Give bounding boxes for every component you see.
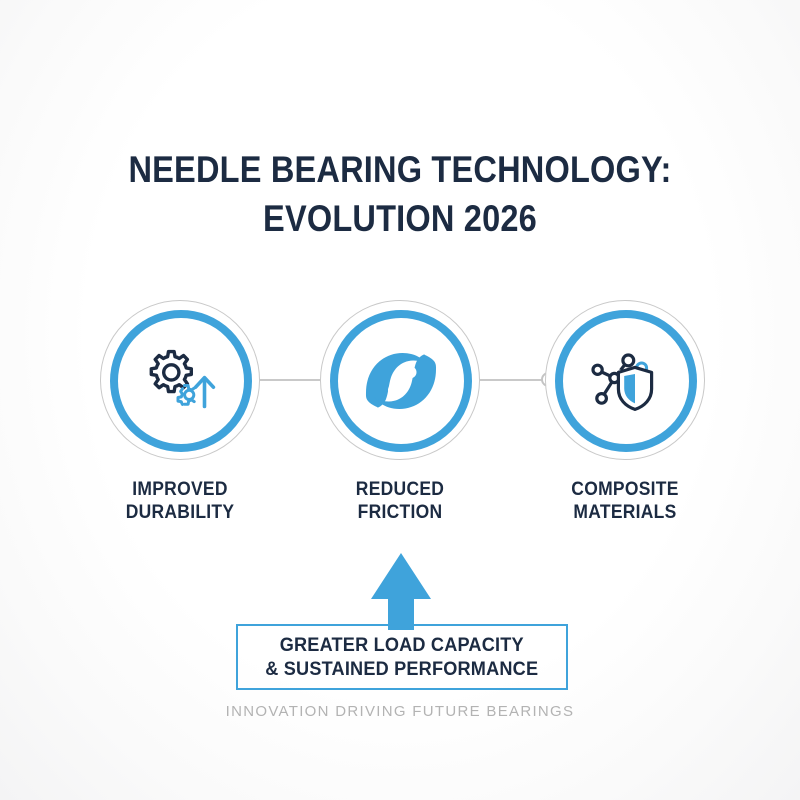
step-2-inner-ring	[330, 310, 472, 452]
friction-swirl-icon	[358, 338, 444, 424]
connector-line-1-2	[252, 379, 328, 381]
step-2-outer-ring	[320, 300, 480, 460]
step-1-label: IMPROVED DURABILITY	[106, 478, 253, 524]
step-improved-durability[interactable]: IMPROVED DURABILITY	[100, 300, 260, 524]
connector-line-2-3	[472, 379, 548, 381]
step-2-label: REDUCED FRICTION	[326, 478, 473, 524]
step-reduced-friction[interactable]: REDUCED FRICTION	[320, 300, 480, 524]
gear-up-arrow-icon	[138, 338, 224, 424]
outcome-box[interactable]: GREATER LOAD CAPACITY & SUSTAINED PERFOR…	[236, 624, 568, 690]
step-1-inner-ring	[110, 310, 252, 452]
step-3-outer-ring	[545, 300, 705, 460]
infographic-canvas: NEEDLE BEARING TECHNOLOGY: EVOLUTION 202…	[0, 0, 800, 800]
up-arrow-icon	[370, 552, 432, 630]
page-title: NEEDLE BEARING TECHNOLOGY: EVOLUTION 202…	[48, 146, 752, 244]
step-1-outer-ring	[100, 300, 260, 460]
molecule-shield-icon	[583, 338, 669, 424]
footer-tagline: INNOVATION DRIVING FUTURE BEARINGS	[0, 703, 800, 720]
outcome-text: GREATER LOAD CAPACITY & SUSTAINED PERFOR…	[266, 633, 539, 681]
step-3-inner-ring	[555, 310, 697, 452]
step-3-label: COMPOSITE MATERIALS	[551, 478, 698, 524]
step-composite-materials[interactable]: COMPOSITE MATERIALS	[545, 300, 705, 524]
